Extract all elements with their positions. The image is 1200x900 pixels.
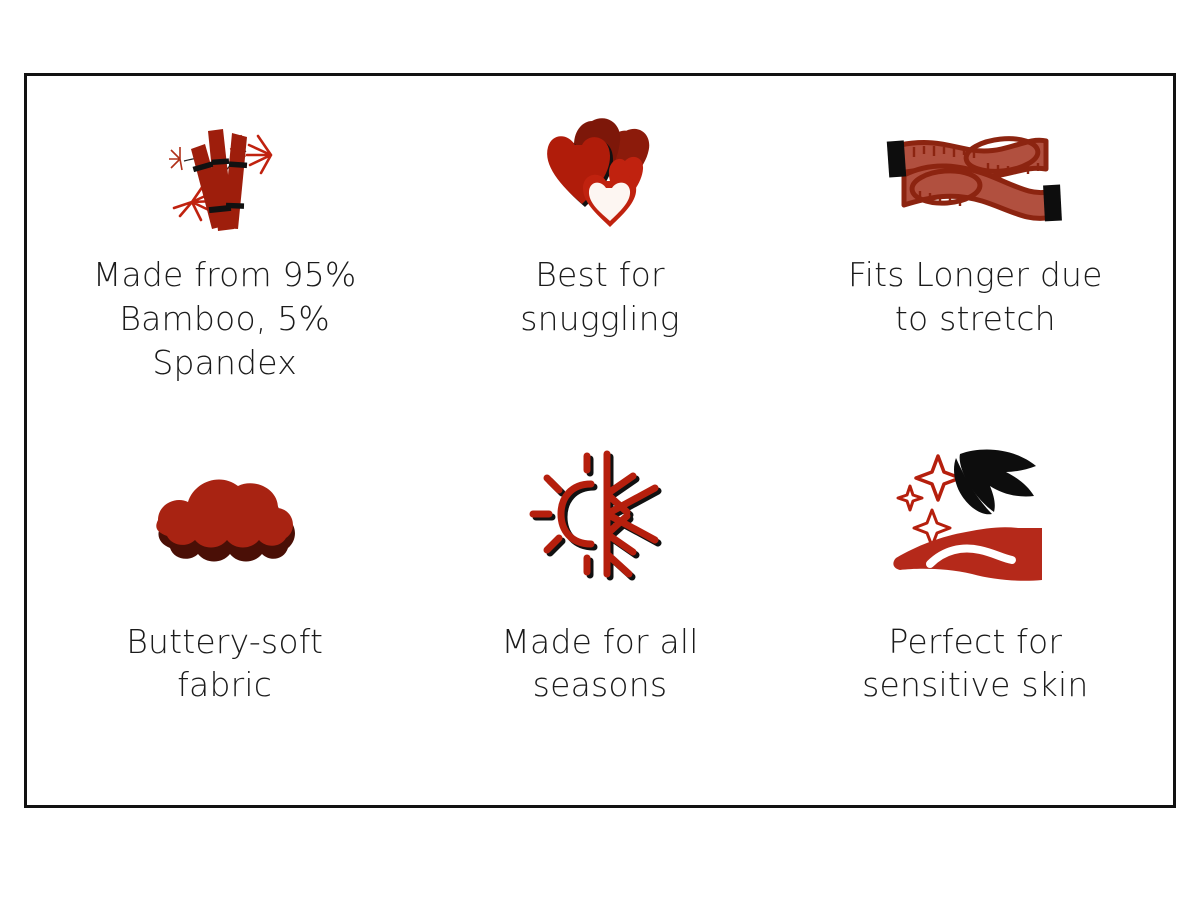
feature-card-cloud: Buttery-soft fabric: [37, 430, 412, 766]
hand-feather-sparkles-icon: [880, 440, 1070, 590]
cloud-icon: [130, 440, 320, 590]
sun-snowflake-icon: [505, 440, 695, 590]
feature-caption: Best for snuggling: [450, 253, 750, 341]
feature-card-sun-snowflake: Made for all seasons: [412, 430, 787, 766]
feature-card-sensitive-skin: Perfect for sensitive skin: [788, 430, 1163, 766]
feature-card-measuring-tape: Fits Longer due to stretch: [788, 94, 1163, 430]
feature-caption: Fits Longer due to stretch: [825, 253, 1125, 341]
feature-caption: Made for all seasons: [450, 620, 750, 708]
hearts-icon: [505, 104, 695, 239]
feature-card-bamboo: Made from 95% Bamboo, 5% Spandex: [37, 94, 412, 430]
feature-card-hearts: Best for snuggling: [412, 94, 787, 430]
feature-poster: Made from 95% Bamboo, 5% Spandex: [0, 0, 1200, 900]
feature-caption: Buttery-soft fabric: [75, 620, 375, 708]
feature-caption: Perfect for sensitive skin: [825, 620, 1125, 708]
feature-grid: Made from 95% Bamboo, 5% Spandex: [27, 76, 1173, 805]
bamboo-icon: [130, 104, 320, 239]
measuring-tape-icon: [880, 104, 1070, 239]
feature-caption: Made from 95% Bamboo, 5% Spandex: [75, 253, 375, 385]
